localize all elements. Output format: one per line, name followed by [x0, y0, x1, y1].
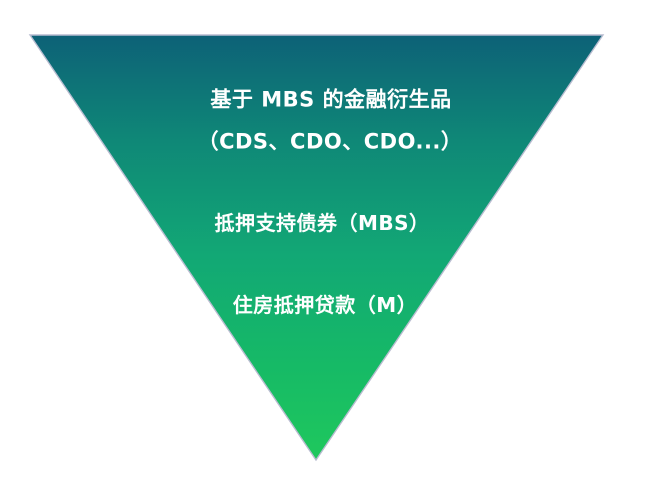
- diagram-canvas: 基于 MBS 的金融衍生品 （CDS、CDO、CDO...） 抵押支持债券（MB…: [0, 0, 662, 485]
- inverted-triangle-shape[interactable]: [0, 0, 662, 485]
- triangle-body[interactable]: [30, 35, 603, 460]
